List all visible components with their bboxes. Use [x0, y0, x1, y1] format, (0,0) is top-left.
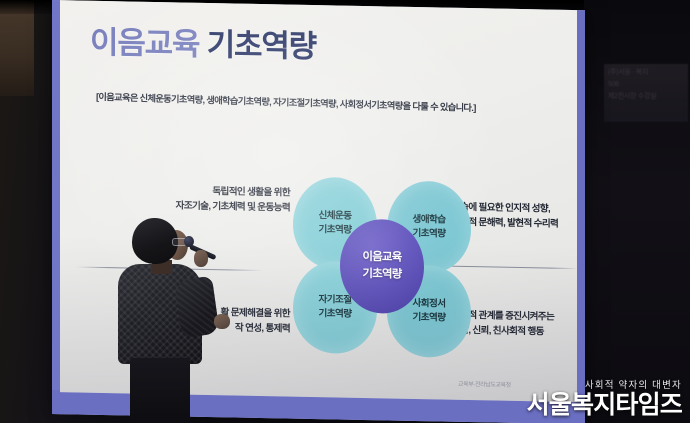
slide-title-part-2: 기초역량: [207, 27, 316, 64]
petal-top-left-line-2: 기초역량: [319, 223, 352, 238]
petal-bottom-left-line-1: 자기조절: [319, 293, 352, 308]
speaker-person: [96, 216, 242, 423]
watermark: 사회적 약자의 대변자 서울복지타임즈: [527, 377, 682, 419]
diagram-core-circle: 이음교육 기초역량: [340, 219, 424, 315]
petal-bottom-left-line-2: 기초역량: [319, 307, 352, 322]
room-signage-line-2: 508: [608, 79, 684, 91]
watermark-outlet-name: 서울복지타임즈: [527, 392, 682, 419]
petal-bottom-right-line-1: 사회정서: [413, 297, 446, 312]
microphone-icon: [184, 236, 194, 247]
description-top-left: 독립적인 생활을 위한 자조기술, 기초체력 및 운동능력: [130, 182, 290, 215]
speaker-hand-holding-mic: [194, 250, 208, 267]
room-signage-line-1: (주)서울 · 복지: [608, 67, 684, 79]
petal-bottom-right-line-2: 기초역량: [413, 311, 446, 326]
room-signage: (주)서울 · 복지 508 제2전시장 수강실: [604, 64, 688, 122]
slide-title-part-1: 이음교육: [90, 25, 199, 62]
petal-top-right-line-1: 생애학습: [413, 213, 446, 228]
description-top-left-line-2: 자조기술, 기초체력 및 운동능력: [130, 197, 290, 215]
room-signage-line-3: 제2전시장 수강실: [608, 91, 684, 103]
slide-subtitle: [이음교육은 신체운동기초역량, 생애학습기초역량, 자기조절기초역량, 사회정…: [96, 89, 476, 114]
speaker-arm: [174, 276, 220, 339]
wall-panel-left: [0, 0, 34, 96]
slide-title: 이음교육 기초역량: [90, 17, 316, 66]
slide-footnote: 교육부·전라남도교육청: [458, 379, 511, 389]
speaker-skirt: [130, 358, 190, 423]
diagram-core-line-2: 기초역량: [362, 266, 401, 284]
screenshot-root: (주)서울 · 복지 508 제2전시장 수강실 이음교육 기초역량 [이음교육…: [0, 0, 690, 423]
speaker-hand-gesture: [214, 314, 230, 329]
watermark-tagline: 사회적 약자의 대변자: [527, 377, 682, 391]
flower-diagram: 신체운동 기초역량 생애학습 기초역량 자기조절 기초역량 사회정서 기초역량 …: [293, 177, 471, 356]
petal-top-left-line-1: 신체운동: [319, 209, 352, 224]
diagram-core-line-1: 이음교육: [362, 249, 401, 267]
petal-top-right-line-2: 기초역량: [413, 227, 446, 242]
